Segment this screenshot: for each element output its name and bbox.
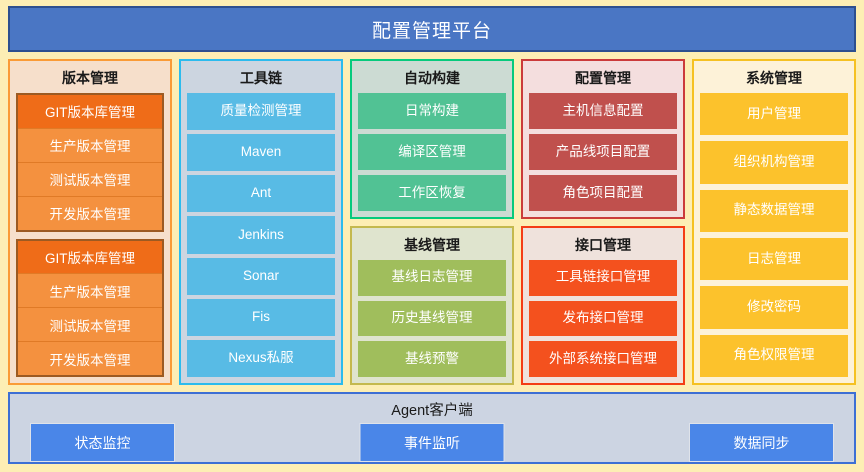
- group-baseline-management: 基线管理 基线日志管理 历史基线管理 基线预警: [350, 226, 514, 385]
- system-item-user-management[interactable]: 用户管理: [700, 93, 848, 135]
- column-config-interface: 配置管理 主机信息配置 产品线项目配置 角色项目配置 接口管理 工具链接口管理 …: [521, 59, 685, 385]
- group-auto-build: 自动构建 日常构建 编译区管理 工作区恢复: [350, 59, 514, 219]
- toolchain-item-quality-inspection[interactable]: 质量检测管理: [187, 93, 335, 130]
- system-item-log-management[interactable]: 日志管理: [700, 238, 848, 280]
- config-item-role-project[interactable]: 角色项目配置: [529, 175, 677, 211]
- system-items: 用户管理 组织机构管理 静态数据管理 日志管理 修改密码 角色权限管理: [700, 93, 848, 377]
- version-item-test-2[interactable]: 测试版本管理: [18, 308, 162, 342]
- column-system-management: 系统管理 用户管理 组织机构管理 静态数据管理 日志管理 修改密码 角色权限管理: [692, 59, 856, 385]
- group-toolchain: 工具链 质量检测管理 Maven Ant Jenkins Sonar Fis N…: [179, 59, 343, 385]
- group-title-toolchain: 工具链: [187, 65, 335, 93]
- version-item-git-repo-2[interactable]: GIT版本库管理: [18, 241, 162, 275]
- version-subgroup-1: GIT版本库管理 生产版本管理 测试版本管理 开发版本管理: [16, 93, 164, 232]
- system-item-change-password[interactable]: 修改密码: [700, 286, 848, 328]
- build-item-compile-area[interactable]: 编译区管理: [358, 134, 506, 170]
- version-item-development-2[interactable]: 开发版本管理: [18, 342, 162, 375]
- group-title-baseline-management: 基线管理: [358, 232, 506, 260]
- toolchain-item-nexus[interactable]: Nexus私服: [187, 340, 335, 377]
- auto-build-items: 日常构建 编译区管理 工作区恢复: [358, 93, 506, 211]
- agent-buttons-container: 状态监控 事件监听 数据同步: [10, 423, 854, 462]
- interface-item-external-system-api[interactable]: 外部系统接口管理: [529, 341, 677, 377]
- group-system-management: 系统管理 用户管理 组织机构管理 静态数据管理 日志管理 修改密码 角色权限管理: [692, 59, 856, 385]
- column-version-management: 版本管理 GIT版本库管理 生产版本管理 测试版本管理 开发版本管理 GIT版本…: [8, 59, 172, 385]
- toolchain-items: 质量检测管理 Maven Ant Jenkins Sonar Fis Nexus…: [187, 93, 335, 377]
- baseline-item-alert[interactable]: 基线预警: [358, 341, 506, 377]
- interface-item-toolchain-api[interactable]: 工具链接口管理: [529, 260, 677, 296]
- columns-container: 版本管理 GIT版本库管理 生产版本管理 测试版本管理 开发版本管理 GIT版本…: [8, 59, 856, 385]
- configuration-management-platform-diagram: 配置管理平台 版本管理 GIT版本库管理 生产版本管理 测试版本管理 开发版本管…: [0, 0, 864, 472]
- toolchain-item-jenkins[interactable]: Jenkins: [187, 216, 335, 253]
- system-item-role-permission-management[interactable]: 角色权限管理: [700, 335, 848, 377]
- version-item-production-2[interactable]: 生产版本管理: [18, 274, 162, 308]
- group-title-interface-management: 接口管理: [529, 232, 677, 260]
- column-build-baseline: 自动构建 日常构建 编译区管理 工作区恢复 基线管理 基线日志管理 历史基线管理…: [350, 59, 514, 385]
- config-item-host-info[interactable]: 主机信息配置: [529, 93, 677, 129]
- group-version-management: 版本管理 GIT版本库管理 生产版本管理 测试版本管理 开发版本管理 GIT版本…: [8, 59, 172, 385]
- toolchain-item-fis[interactable]: Fis: [187, 299, 335, 336]
- baseline-items: 基线日志管理 历史基线管理 基线预警: [358, 260, 506, 377]
- version-item-production-1[interactable]: 生产版本管理: [18, 129, 162, 163]
- group-title-system-management: 系统管理: [700, 65, 848, 93]
- group-title-auto-build: 自动构建: [358, 65, 506, 93]
- interface-items: 工具链接口管理 发布接口管理 外部系统接口管理: [529, 260, 677, 377]
- version-item-test-1[interactable]: 测试版本管理: [18, 163, 162, 197]
- version-item-git-repo-1[interactable]: GIT版本库管理: [18, 95, 162, 129]
- version-subgroup-2: GIT版本库管理 生产版本管理 测试版本管理 开发版本管理: [16, 239, 164, 378]
- build-item-daily-build[interactable]: 日常构建: [358, 93, 506, 129]
- group-title-version-management: 版本管理: [16, 65, 164, 93]
- toolchain-item-maven[interactable]: Maven: [187, 134, 335, 171]
- group-title-config-management: 配置管理: [529, 65, 677, 93]
- build-item-workspace-restore[interactable]: 工作区恢复: [358, 175, 506, 211]
- toolchain-item-sonar[interactable]: Sonar: [187, 258, 335, 295]
- version-item-development-1[interactable]: 开发版本管理: [18, 197, 162, 230]
- interface-item-release-api[interactable]: 发布接口管理: [529, 301, 677, 337]
- agent-button-event-listener[interactable]: 事件监听: [360, 423, 505, 462]
- system-item-organization-management[interactable]: 组织机构管理: [700, 141, 848, 183]
- agent-client-title: Agent客户端: [10, 394, 854, 420]
- baseline-item-history[interactable]: 历史基线管理: [358, 301, 506, 337]
- column-toolchain: 工具链 质量检测管理 Maven Ant Jenkins Sonar Fis N…: [179, 59, 343, 385]
- platform-title-bar: 配置管理平台: [8, 6, 856, 52]
- version-subgroups: GIT版本库管理 生产版本管理 测试版本管理 开发版本管理 GIT版本库管理 生…: [16, 93, 164, 377]
- page-title: 配置管理平台: [372, 16, 492, 43]
- group-config-management: 配置管理 主机信息配置 产品线项目配置 角色项目配置: [521, 59, 685, 219]
- config-item-product-line-project[interactable]: 产品线项目配置: [529, 134, 677, 170]
- group-interface-management: 接口管理 工具链接口管理 发布接口管理 外部系统接口管理: [521, 226, 685, 385]
- agent-client-bar: Agent客户端 状态监控 事件监听 数据同步: [8, 392, 856, 464]
- system-item-static-data-management[interactable]: 静态数据管理: [700, 190, 848, 232]
- agent-button-status-monitor[interactable]: 状态监控: [30, 423, 175, 462]
- config-items: 主机信息配置 产品线项目配置 角色项目配置: [529, 93, 677, 211]
- agent-button-data-sync[interactable]: 数据同步: [689, 423, 834, 462]
- baseline-item-log[interactable]: 基线日志管理: [358, 260, 506, 296]
- toolchain-item-ant[interactable]: Ant: [187, 175, 335, 212]
